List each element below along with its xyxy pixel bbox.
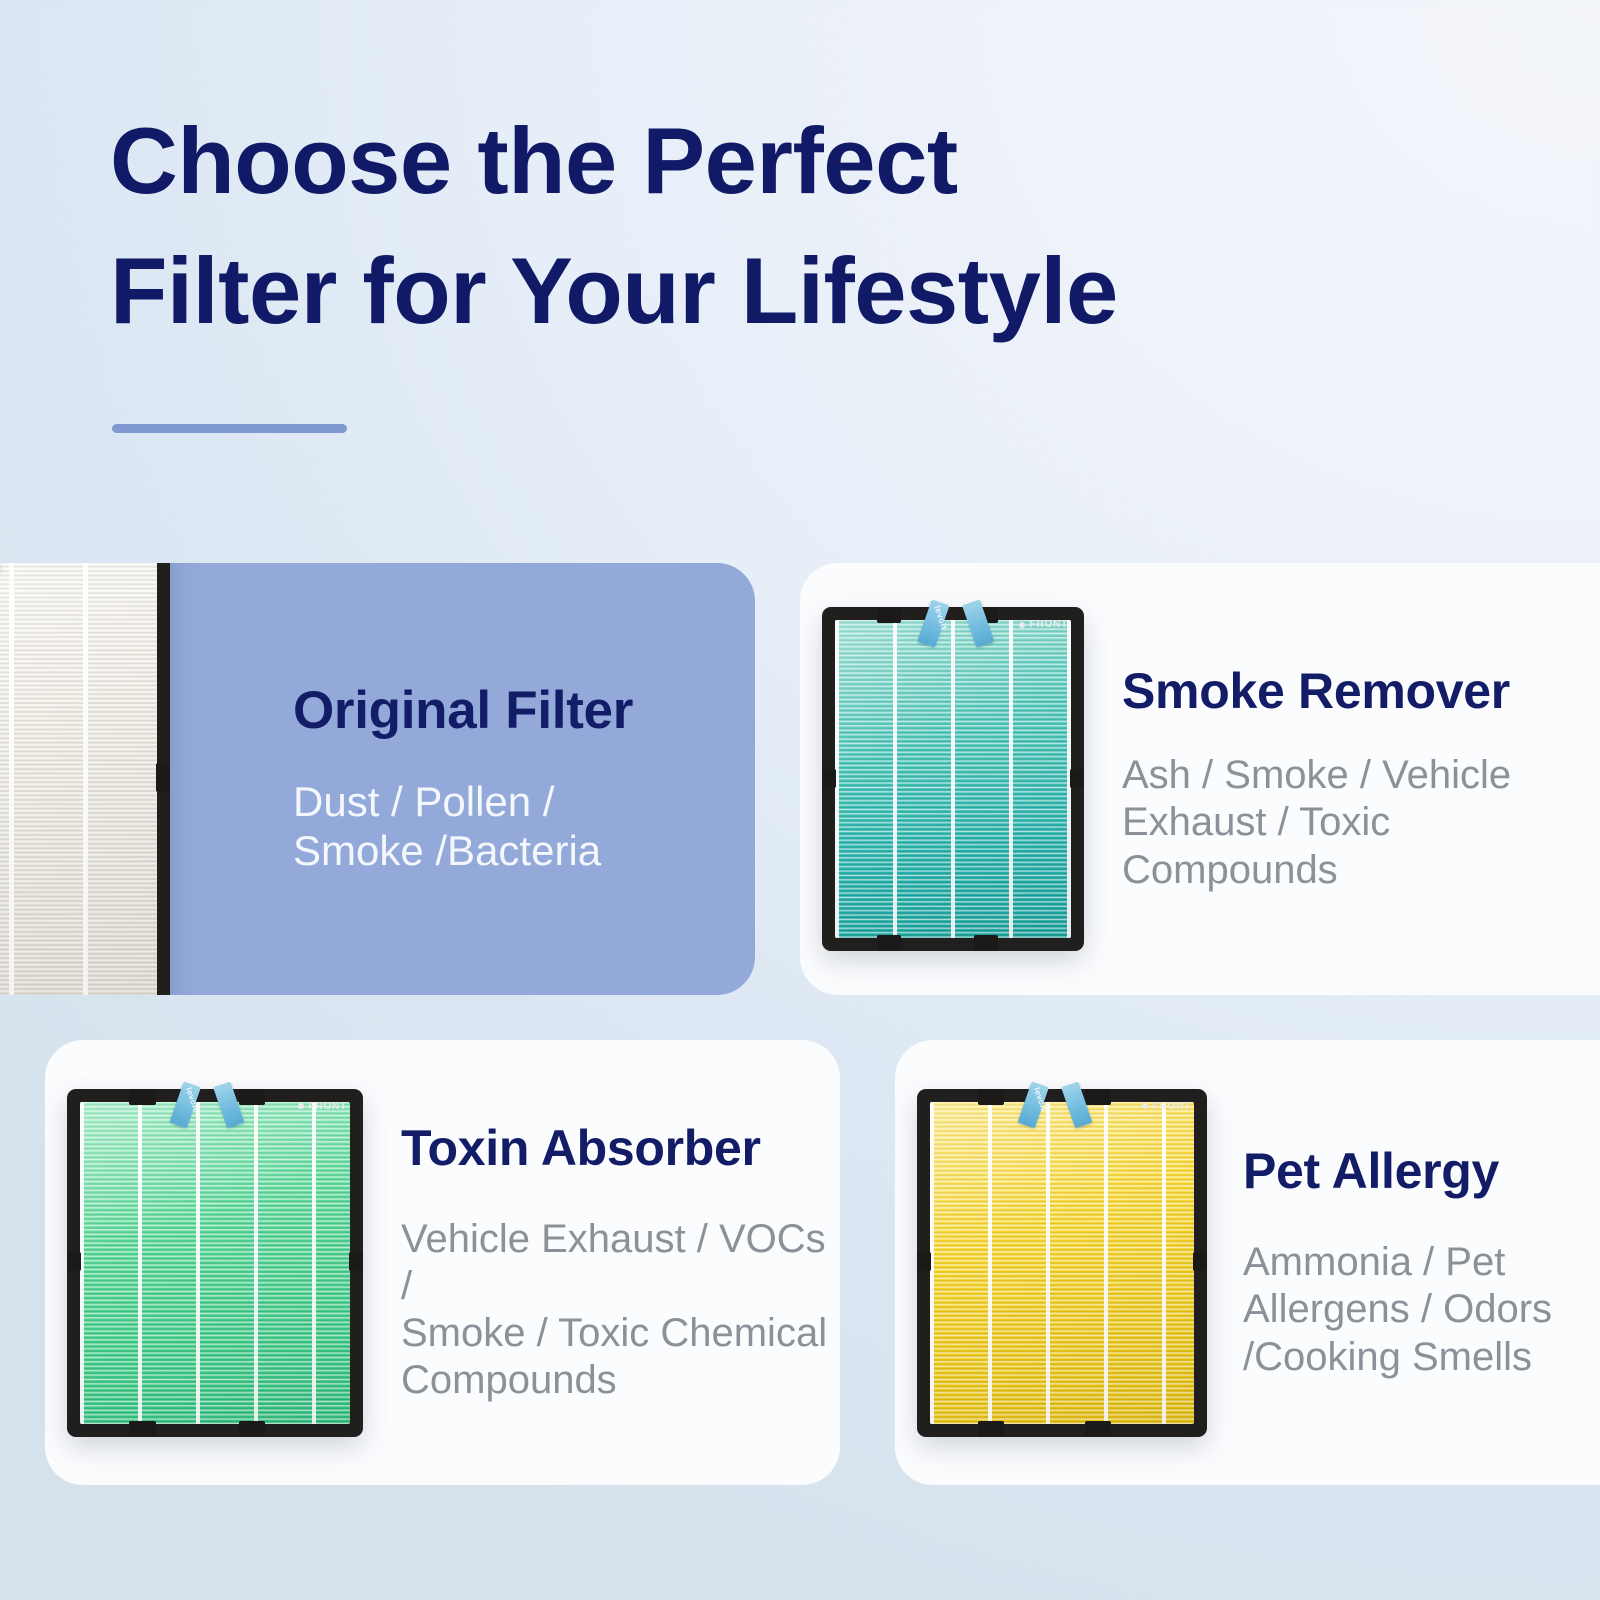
frame-tab-left (917, 1252, 931, 1271)
filter-media-area (835, 620, 1071, 938)
frame-tab-bottom-left (877, 935, 901, 951)
front-orientation-marker: FRONT (1019, 619, 1068, 630)
card-text-smoke-remover: Smoke Remover Ash / Smoke / Vehicle Exha… (1084, 664, 1600, 894)
frame-tab-bottom-right (239, 1421, 266, 1437)
card-title-original-filter: Original Filter (293, 682, 755, 740)
frame-tab-top-left (129, 1089, 156, 1105)
frame-tab-bottom-right (974, 935, 998, 951)
page-header: Choose the Perfect Filter for Your Lifes… (110, 96, 1430, 355)
filter-figure-pet: FRONT levoit (895, 1089, 1207, 1437)
filter-figure-smoke: FRONT levoit (800, 607, 1084, 951)
pull-ribbon-icon: levoit (179, 1083, 239, 1135)
frame-tab-top-left (877, 607, 901, 623)
air-filter-image-toxin: FRONT levoit (67, 1089, 363, 1437)
front-dot-icon (1019, 622, 1025, 628)
frame-tab-right (156, 763, 170, 791)
title-accent-bar (112, 424, 347, 433)
filter-pleats-texture (930, 1102, 1194, 1424)
card-text-pet-allergy: Pet Allergy Ammonia / Pet Allergens / Od… (1207, 1144, 1600, 1381)
filter-pleats-texture (0, 563, 157, 995)
pull-ribbon-icon: levoit (1027, 1083, 1087, 1135)
front-label-text: FRONT (1030, 619, 1068, 630)
filter-card-pet-allergy[interactable]: FRONT levoit Pet Allergy Ammonia / Pet A… (895, 1040, 1600, 1485)
card-title-pet-allergy: Pet Allergy (1243, 1144, 1600, 1199)
frame-tab-bottom-right (1085, 1421, 1111, 1437)
filter-media-area (0, 563, 157, 995)
card-description-toxin-absorber: Vehicle Exhaust / VOCs / Smoke / Toxic C… (401, 1216, 830, 1405)
card-title-toxin-absorber: Toxin Absorber (401, 1121, 830, 1176)
front-orientation-marker: FRONT (298, 1101, 347, 1112)
air-filter-image-pet: FRONT levoit (917, 1089, 1207, 1437)
card-description-pet-allergy: Ammonia / Pet Allergens / Odors /Cooking… (1243, 1239, 1600, 1381)
card-description-original-filter: Dust / Pollen / Smoke /Bacteria (293, 777, 755, 876)
frame-tab-right (1070, 769, 1084, 788)
frame-tab-right (349, 1252, 363, 1271)
frame-tab-top-right (1085, 1089, 1111, 1105)
frame-tab-right (1193, 1252, 1207, 1271)
front-dot-icon (298, 1103, 304, 1109)
air-filter-image-original: FRONT levoit (0, 563, 170, 995)
frame-tab-bottom-left (978, 1421, 1004, 1437)
pull-ribbon-icon: levoit (927, 601, 989, 654)
frame-tab-left (822, 769, 836, 788)
frame-tab-bottom-left (129, 1421, 156, 1437)
frame-tab-left (67, 1252, 81, 1271)
card-title-smoke-remover: Smoke Remover (1122, 664, 1600, 719)
filter-media-area (930, 1102, 1194, 1424)
card-text-toxin-absorber: Toxin Absorber Vehicle Exhaust / VOCs / … (363, 1121, 840, 1405)
filter-media-area (80, 1102, 350, 1424)
filter-card-original-filter[interactable]: FRONT levoit Original Filter Dust / Poll… (0, 563, 755, 995)
filter-figure-toxin: FRONT levoit (45, 1089, 363, 1437)
filter-pleats-texture (80, 1102, 350, 1424)
front-orientation-marker: FRONT (1142, 1101, 1191, 1112)
frame-tab-top-left (978, 1089, 1004, 1105)
filter-card-toxin-absorber[interactable]: FRONT levoit Toxin Absorber Vehicle Exha… (45, 1040, 840, 1485)
filter-pleats-texture (835, 620, 1071, 938)
front-dot-icon (1142, 1103, 1148, 1109)
page-title: Choose the Perfect Filter for Your Lifes… (110, 96, 1430, 355)
filter-card-smoke-remover[interactable]: FRONT levoit Smoke Remover Ash / Smoke /… (800, 563, 1600, 995)
frame-tab-top-right (239, 1089, 266, 1105)
air-filter-image-smoke: FRONT levoit (822, 607, 1084, 951)
front-label-text: FRONT (309, 1101, 347, 1112)
card-description-smoke-remover: Ash / Smoke / Vehicle Exhaust / Toxic Co… (1122, 752, 1600, 894)
front-label-text: FRONT (1153, 1101, 1191, 1112)
